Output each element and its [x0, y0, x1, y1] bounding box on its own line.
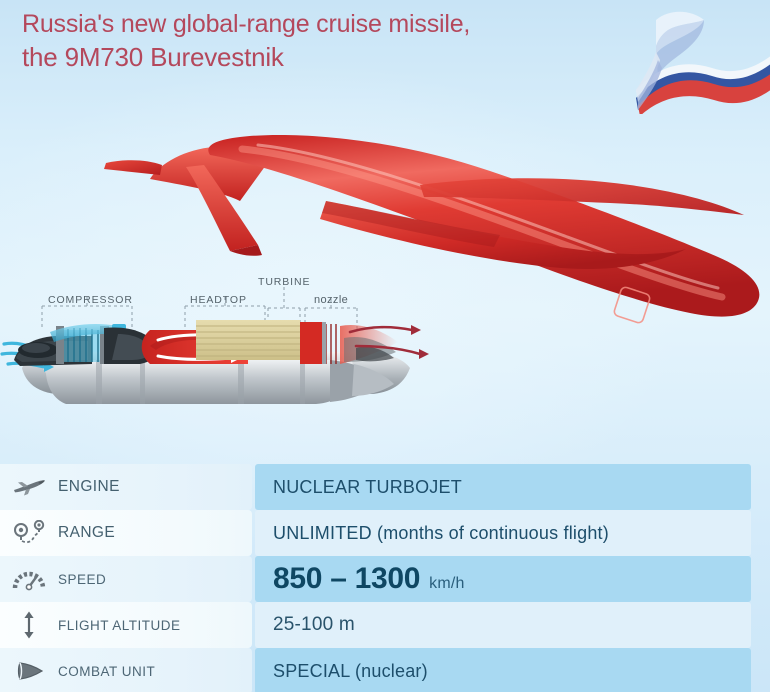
spec-label-cell: COMBAT UNIT: [0, 648, 252, 692]
spec-value: 850 – 1300: [273, 562, 420, 596]
spec-value: UNLIMITED (months of continuous flight): [255, 523, 609, 544]
missile-icon: [0, 477, 58, 497]
spec-value: SPECIAL (nuclear): [255, 661, 428, 682]
route-pins-icon: [0, 520, 58, 546]
table-row: ENGINE NUCLEAR TURBOJET: [0, 464, 770, 510]
spec-label: SPEED: [58, 572, 106, 587]
spec-value: 25-100 m: [255, 614, 355, 636]
page-title: Russia's new global-range cruise missile…: [22, 8, 582, 74]
infographic-root: Russia's new global-range cruise missile…: [0, 0, 770, 692]
table-row: COMBAT UNIT SPECIAL (nuclear): [0, 648, 770, 692]
callout-compressor: COMPRESSOR: [48, 294, 133, 306]
russian-flag-ribbon: [600, 0, 770, 114]
title-line-2: the 9M730 Burevestnik: [22, 41, 582, 74]
spec-value: NUCLEAR TURBOJET: [255, 477, 462, 498]
callout-nozzle: nozzle: [314, 294, 348, 306]
spec-label-cell: ENGINE: [0, 464, 252, 510]
turbine-block: [300, 322, 322, 364]
spec-value-cell: 850 – 1300 km/h: [255, 556, 751, 602]
table-row: SPEED 850 – 1300 km/h: [0, 556, 770, 602]
spec-value-group: 850 – 1300 km/h: [255, 562, 465, 596]
callout-turbine: TURBINE: [258, 276, 310, 288]
spec-label: ENGINE: [58, 478, 120, 496]
engine-cutaway-diagram: COMPRESSOR HEADTOP TURBINE nozzle: [0, 268, 520, 453]
table-row: FLIGHT ALTITUDE 25-100 m: [0, 602, 770, 648]
speedometer-icon: [0, 567, 58, 591]
spec-label: RANGE: [58, 524, 115, 542]
spec-label: FLIGHT ALTITUDE: [58, 618, 181, 633]
spec-label-cell: SPEED: [0, 556, 252, 602]
reactor-core: [196, 320, 300, 360]
title-line-1: Russia's new global-range cruise missile…: [22, 10, 470, 38]
vertical-arrow-icon: [0, 610, 58, 640]
callout-headtop: HEADTOP: [190, 294, 247, 306]
specifications-table: ENGINE NUCLEAR TURBOJET: [0, 464, 770, 692]
spec-value-cell: SPECIAL (nuclear): [255, 648, 751, 692]
warhead-icon: [0, 660, 58, 682]
spec-value-unit: km/h: [429, 575, 464, 593]
spec-label-cell: RANGE: [0, 510, 252, 556]
spec-value-cell: UNLIMITED (months of continuous flight): [255, 510, 751, 556]
table-row: RANGE UNLIMITED (months of continuous fl…: [0, 510, 770, 556]
spec-value-cell: 25-100 m: [255, 602, 751, 648]
spec-label-cell: FLIGHT ALTITUDE: [0, 602, 252, 648]
spec-label: COMBAT UNIT: [58, 664, 155, 679]
spec-value-cell: NUCLEAR TURBOJET: [255, 464, 751, 510]
